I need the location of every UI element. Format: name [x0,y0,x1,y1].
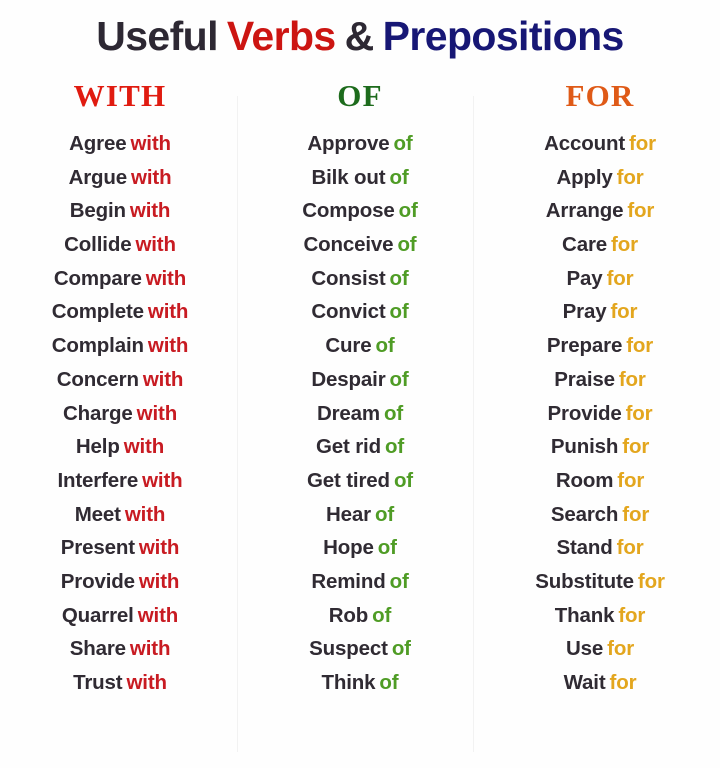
verb-text: Praise [554,368,615,391]
title-word-ampersand: & [345,16,374,57]
preposition-text: with [148,300,188,323]
list-item: Roomfor [480,464,720,498]
preposition-text: for [610,300,637,323]
list-item: Collidewith [0,228,240,262]
list-item: Composeof [240,194,480,228]
preposition-text: for [617,536,644,559]
list-item: Cureof [240,329,480,363]
columns-container: WITH AgreewithArguewithBeginwithCollidew… [0,80,720,700]
verb-text: Pray [563,300,607,323]
column-with: WITH AgreewithArguewithBeginwithCollidew… [0,80,240,700]
list-item: Completewith [0,295,240,329]
verb-text: Get tired [307,469,390,492]
verb-text: Think [322,671,376,694]
verb-text: Compare [54,267,142,290]
preposition-text: for [611,233,638,256]
verb-text: Thank [555,604,615,627]
list-item: Comparewith [0,262,240,296]
verb-list-with: AgreewithArguewithBeginwithCollidewithCo… [0,127,240,700]
verb-text: Account [544,132,625,155]
preposition-text: of [399,199,418,222]
verb-text: Rob [329,604,368,627]
preposition-text: with [137,402,177,425]
verb-text: Care [562,233,607,256]
preposition-text: with [131,166,171,189]
verb-text: Convict [311,300,385,323]
preposition-text: with [142,469,182,492]
preposition-text: for [622,503,649,526]
preposition-text: with [143,368,183,391]
verb-text: Search [551,503,618,526]
preposition-text: for [610,671,637,694]
verb-list-for: AccountforApplyforArrangeforCareforPayfo… [480,127,720,700]
list-item: Interferewith [0,464,240,498]
preposition-text: with [138,604,178,627]
verb-text: Share [70,637,126,660]
list-item: Payfor [480,262,720,296]
list-item: Substitutefor [480,565,720,599]
list-item: Complainwith [0,329,240,363]
list-item: Quarrelwith [0,599,240,633]
verb-text: Despair [311,368,385,391]
list-item: Providewith [0,565,240,599]
list-item: Remindof [240,565,480,599]
preposition-text: with [130,199,170,222]
verb-text: Interfere [57,469,138,492]
verb-text: Provide [547,402,621,425]
preposition-text: of [397,233,416,256]
list-item: Praisefor [480,363,720,397]
column-header-for: FOR [565,80,634,111]
list-item: Despairof [240,363,480,397]
verb-text: Wait [564,671,606,694]
list-item: Arrangefor [480,194,720,228]
preposition-text: of [372,604,391,627]
list-item: Helpwith [0,430,240,464]
list-item: Usefor [480,632,720,666]
list-item: Sharewith [0,632,240,666]
preposition-text: of [390,267,409,290]
verb-text: Begin [70,199,126,222]
preposition-text: for [618,604,645,627]
list-item: Thankfor [480,599,720,633]
preposition-text: of [390,368,409,391]
list-item: Agreewith [0,127,240,161]
list-item: Beginwith [0,194,240,228]
list-item: Preparefor [480,329,720,363]
verb-text: Remind [311,570,385,593]
list-item: Consistof [240,262,480,296]
preposition-text: of [394,469,413,492]
verb-text: Pay [567,267,603,290]
preposition-text: of [390,570,409,593]
list-item: Robof [240,599,480,633]
list-item: Dreamof [240,397,480,431]
verb-list-of: ApproveofBilk outofComposeofConceiveofCo… [240,127,480,700]
verb-preposition-poster: Useful Verbs & Prepositions WITH Agreewi… [0,0,720,768]
verb-text: Use [566,637,603,660]
verb-text: Bilk out [311,166,385,189]
list-item: Thinkof [240,666,480,700]
preposition-text: for [607,267,634,290]
verb-text: Substitute [535,570,634,593]
column-header-with: WITH [74,80,167,111]
preposition-text: of [390,300,409,323]
list-item: Presentwith [0,531,240,565]
verb-text: Get rid [316,435,381,458]
list-item: Applyfor [480,161,720,195]
column-header-of: OF [337,80,382,111]
list-item: Get ridof [240,430,480,464]
list-item: Bilk outof [240,161,480,195]
verb-text: Quarrel [62,604,134,627]
preposition-text: with [126,671,166,694]
preposition-text: of [389,166,408,189]
verb-text: Compose [302,199,394,222]
list-item: Chargewith [0,397,240,431]
list-item: Concernwith [0,363,240,397]
verb-text: Conceive [303,233,393,256]
list-item: Convictof [240,295,480,329]
list-item: Accountfor [480,127,720,161]
preposition-text: of [379,671,398,694]
list-item: Standfor [480,531,720,565]
verb-text: Argue [69,166,127,189]
verb-text: Hope [323,536,374,559]
verb-text: Provide [61,570,135,593]
verb-text: Arrange [546,199,624,222]
verb-text: Complete [52,300,144,323]
list-item: Get tiredof [240,464,480,498]
preposition-text: with [146,267,186,290]
preposition-text: of [394,132,413,155]
preposition-text: of [384,402,403,425]
preposition-text: with [124,435,164,458]
list-item: Hearof [240,498,480,532]
verb-text: Stand [556,536,612,559]
preposition-text: of [378,536,397,559]
list-item: Meetwith [0,498,240,532]
preposition-text: of [376,334,395,357]
list-item: Conceiveof [240,228,480,262]
list-item: Prayfor [480,295,720,329]
preposition-text: for [626,334,653,357]
verb-text: Agree [69,132,126,155]
preposition-text: of [385,435,404,458]
preposition-text: for [638,570,665,593]
list-item: Arguewith [0,161,240,195]
preposition-text: for [617,166,644,189]
list-item: Hopeof [240,531,480,565]
preposition-text: of [375,503,394,526]
preposition-text: for [619,368,646,391]
verb-text: Meet [75,503,121,526]
verb-text: Present [61,536,135,559]
verb-text: Trust [73,671,122,694]
list-item: Waitfor [480,666,720,700]
preposition-text: of [392,637,411,660]
preposition-text: for [622,435,649,458]
title-word-prepositions: Prepositions [383,16,624,57]
verb-text: Complain [52,334,144,357]
list-item: Trustwith [0,666,240,700]
verb-text: Apply [556,166,612,189]
preposition-text: for [626,402,653,425]
list-item: Approveof [240,127,480,161]
list-item: Suspectof [240,632,480,666]
list-item: Punishfor [480,430,720,464]
list-item: Providefor [480,397,720,431]
preposition-text: with [139,570,179,593]
column-of: OF ApproveofBilk outofComposeofConceiveo… [240,80,480,700]
verb-text: Punish [551,435,618,458]
verb-text: Approve [307,132,389,155]
preposition-text: for [617,469,644,492]
title-word-useful: Useful [96,16,218,57]
verb-text: Charge [63,402,133,425]
preposition-text: with [135,233,175,256]
list-item: Carefor [480,228,720,262]
verb-text: Help [76,435,120,458]
verb-text: Consist [311,267,385,290]
preposition-text: with [130,637,170,660]
verb-text: Suspect [309,637,388,660]
preposition-text: for [629,132,656,155]
title-word-verbs: Verbs [227,16,336,57]
list-item: Searchfor [480,498,720,532]
page-title: Useful Verbs & Prepositions [0,0,720,72]
verb-text: Concern [57,368,139,391]
verb-text: Dream [317,402,380,425]
verb-text: Collide [64,233,131,256]
preposition-text: with [130,132,170,155]
preposition-text: with [125,503,165,526]
column-for: FOR AccountforApplyforArrangeforCareforP… [480,80,720,700]
preposition-text: with [148,334,188,357]
preposition-text: for [627,199,654,222]
verb-text: Prepare [547,334,622,357]
preposition-text: for [607,637,634,660]
verb-text: Cure [325,334,371,357]
verb-text: Room [556,469,613,492]
verb-text: Hear [326,503,371,526]
preposition-text: with [139,536,179,559]
